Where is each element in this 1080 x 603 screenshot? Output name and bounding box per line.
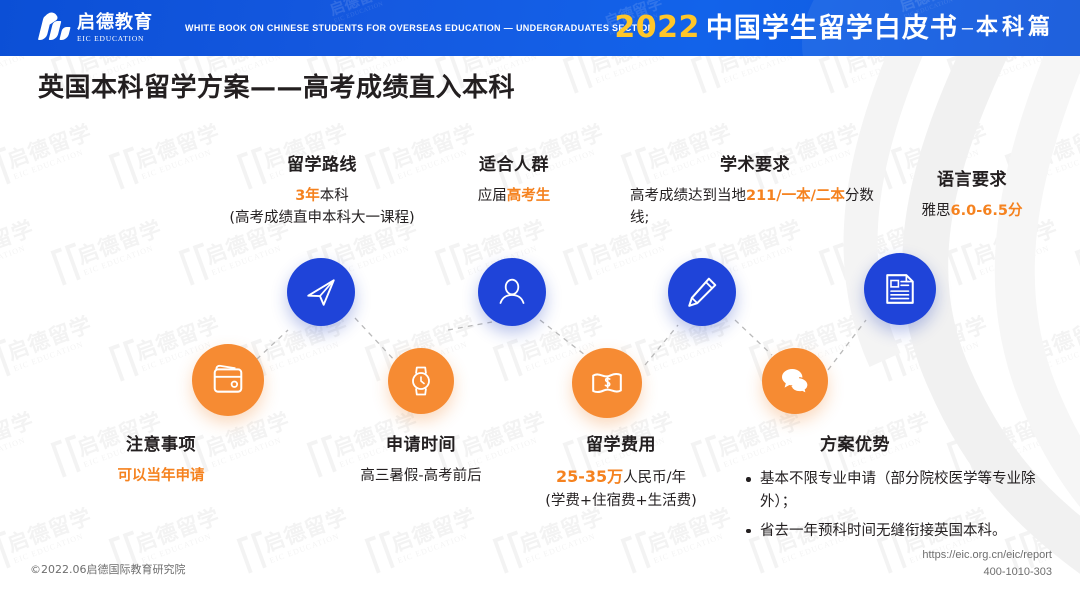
page-title: 英国本科留学方案——高考成绩直入本科 [38, 67, 515, 104]
node-block-apply-time: 申请时间 高三暑假-高考前后 [323, 430, 519, 487]
brand-logo-text: 启德教育 EIC EDUCATION [77, 14, 153, 43]
brand-logo[interactable]: 启德教育 EIC EDUCATION [40, 11, 153, 45]
node-text-language-lead: 雅思 [922, 203, 951, 219]
node-subtext-cost: (学费+住宿费+生活费) [545, 493, 697, 509]
node-heading-language: 语言要求 [872, 165, 1072, 190]
node-text-notes: 可以当年申请 [63, 465, 259, 487]
node-block-audience: 适合人群 应届高考生 [430, 150, 598, 207]
node-text-academic-lead: 高考成绩达到当地 [630, 188, 746, 204]
node-text-apply-time: 高三暑假-高考前后 [323, 465, 519, 487]
node-heading-academic: 学术要求 [630, 150, 880, 175]
node-highlight-audience: 高考生 [507, 188, 551, 204]
advantages-bullet-list: 基本不限专业申请（部分院校医学等专业除外）； 省去一年预科时间无缝衔接英国本科。 [740, 468, 1062, 548]
wallet-icon [211, 363, 245, 397]
header-year: 2022 [614, 13, 700, 43]
node-text-route-tail: 本科 [320, 188, 349, 204]
header-subtitle: WHITE BOOK ON CHINESE STUDENTS FOR OVERS… [185, 0, 655, 56]
node-icon-cost[interactable] [572, 348, 642, 418]
user-icon [496, 276, 528, 308]
header-title: 2022 中国学生留学白皮书 – 本科篇 [614, 0, 1054, 56]
node-icon-notes[interactable] [192, 344, 264, 416]
copyright-text: ©2022.06启德国际教育研究院 [30, 561, 186, 577]
header-bar: 启德留学 EIC EDUCATION 启德留学 EIC EDUCATION 启德… [0, 0, 1080, 56]
node-icon-language[interactable] [864, 253, 936, 325]
list-item: 基本不限专业申请（部分院校医学等专业除外）； [760, 468, 1062, 515]
report-url[interactable]: https://eic.org.cn/eic/report [922, 547, 1052, 564]
slide-page: ⎡⎡启德留学EIC EDUCATION⎡⎡启德留学EIC EDUCATION⎡⎡… [0, 0, 1080, 603]
node-text-route: 3年本科 (高考成绩直申本科大一课程) [178, 185, 466, 230]
node-icon-apply-time[interactable] [388, 348, 454, 414]
node-highlight-academic: 211/一本/二本 [746, 188, 845, 204]
eic-logo-icon [40, 12, 70, 44]
brand-name-cn: 启德教育 [77, 14, 153, 32]
node-block-notes: 注意事项 可以当年申请 [63, 430, 259, 487]
node-heading-route: 留学路线 [178, 150, 466, 175]
header-title-cn: 中国学生留学白皮书 [706, 15, 958, 42]
node-icon-advantages[interactable] [762, 348, 828, 414]
node-icon-academic[interactable] [668, 258, 736, 326]
node-block-language: 语言要求 雅思6.0-6.5分 [872, 165, 1072, 222]
node-text-audience: 应届高考生 [430, 185, 598, 207]
hotline-number: 400-1010-303 [922, 564, 1052, 581]
paper-plane-icon [304, 275, 338, 309]
node-text-language: 雅思6.0-6.5分 [872, 200, 1072, 222]
header-title-section: 本科篇 [976, 17, 1054, 39]
node-heading-advantages: 方案优势 [760, 430, 950, 455]
node-heading-cost: 留学费用 [512, 430, 730, 455]
node-highlight-notes: 可以当年申请 [118, 468, 205, 484]
node-highlight-language: 6.0-6.5分 [951, 203, 1023, 219]
node-text-audience-lead: 应届 [478, 188, 507, 204]
node-block-route: 留学路线 3年本科 (高考成绩直申本科大一课程) [178, 150, 466, 230]
pencil-icon [685, 275, 719, 309]
node-block-academic: 学术要求 高考成绩达到当地211/一本/二本分数线; [630, 150, 880, 230]
brand-name-en: EIC EDUCATION [77, 35, 153, 43]
node-heading-notes: 注意事项 [63, 430, 259, 455]
chat-bubbles-icon [779, 365, 811, 397]
node-highlight-route: 3年 [295, 188, 320, 204]
node-heading-audience: 适合人群 [430, 150, 598, 175]
node-text-cost: 25-35万人民币/年 (学费+住宿费+生活费) [512, 465, 730, 512]
node-heading-apply-time: 申请时间 [323, 430, 519, 455]
footer-contact: https://eic.org.cn/eic/report 400-1010-3… [922, 547, 1052, 581]
list-item: 省去一年预科时间无缝衔接英国本科。 [760, 520, 1062, 543]
node-icon-audience[interactable] [478, 258, 546, 326]
node-text-apply-time-value: 高三暑假-高考前后 [360, 468, 481, 484]
node-text-cost-unit: 人民币/年 [623, 470, 686, 486]
watch-icon [405, 365, 437, 397]
document-icon [883, 272, 917, 306]
node-icon-route[interactable] [287, 258, 355, 326]
node-text-academic: 高考成绩达到当地211/一本/二本分数线; [630, 185, 880, 230]
banknote-icon [590, 366, 624, 400]
node-block-advantages: 方案优势 [760, 430, 950, 455]
node-block-cost: 留学费用 25-35万人民币/年 (学费+住宿费+生活费) [512, 430, 730, 512]
node-subtext-route: (高考成绩直申本科大一课程) [229, 210, 414, 226]
node-highlight-cost: 25-35万 [556, 467, 623, 486]
header-title-dash: – [962, 18, 973, 38]
